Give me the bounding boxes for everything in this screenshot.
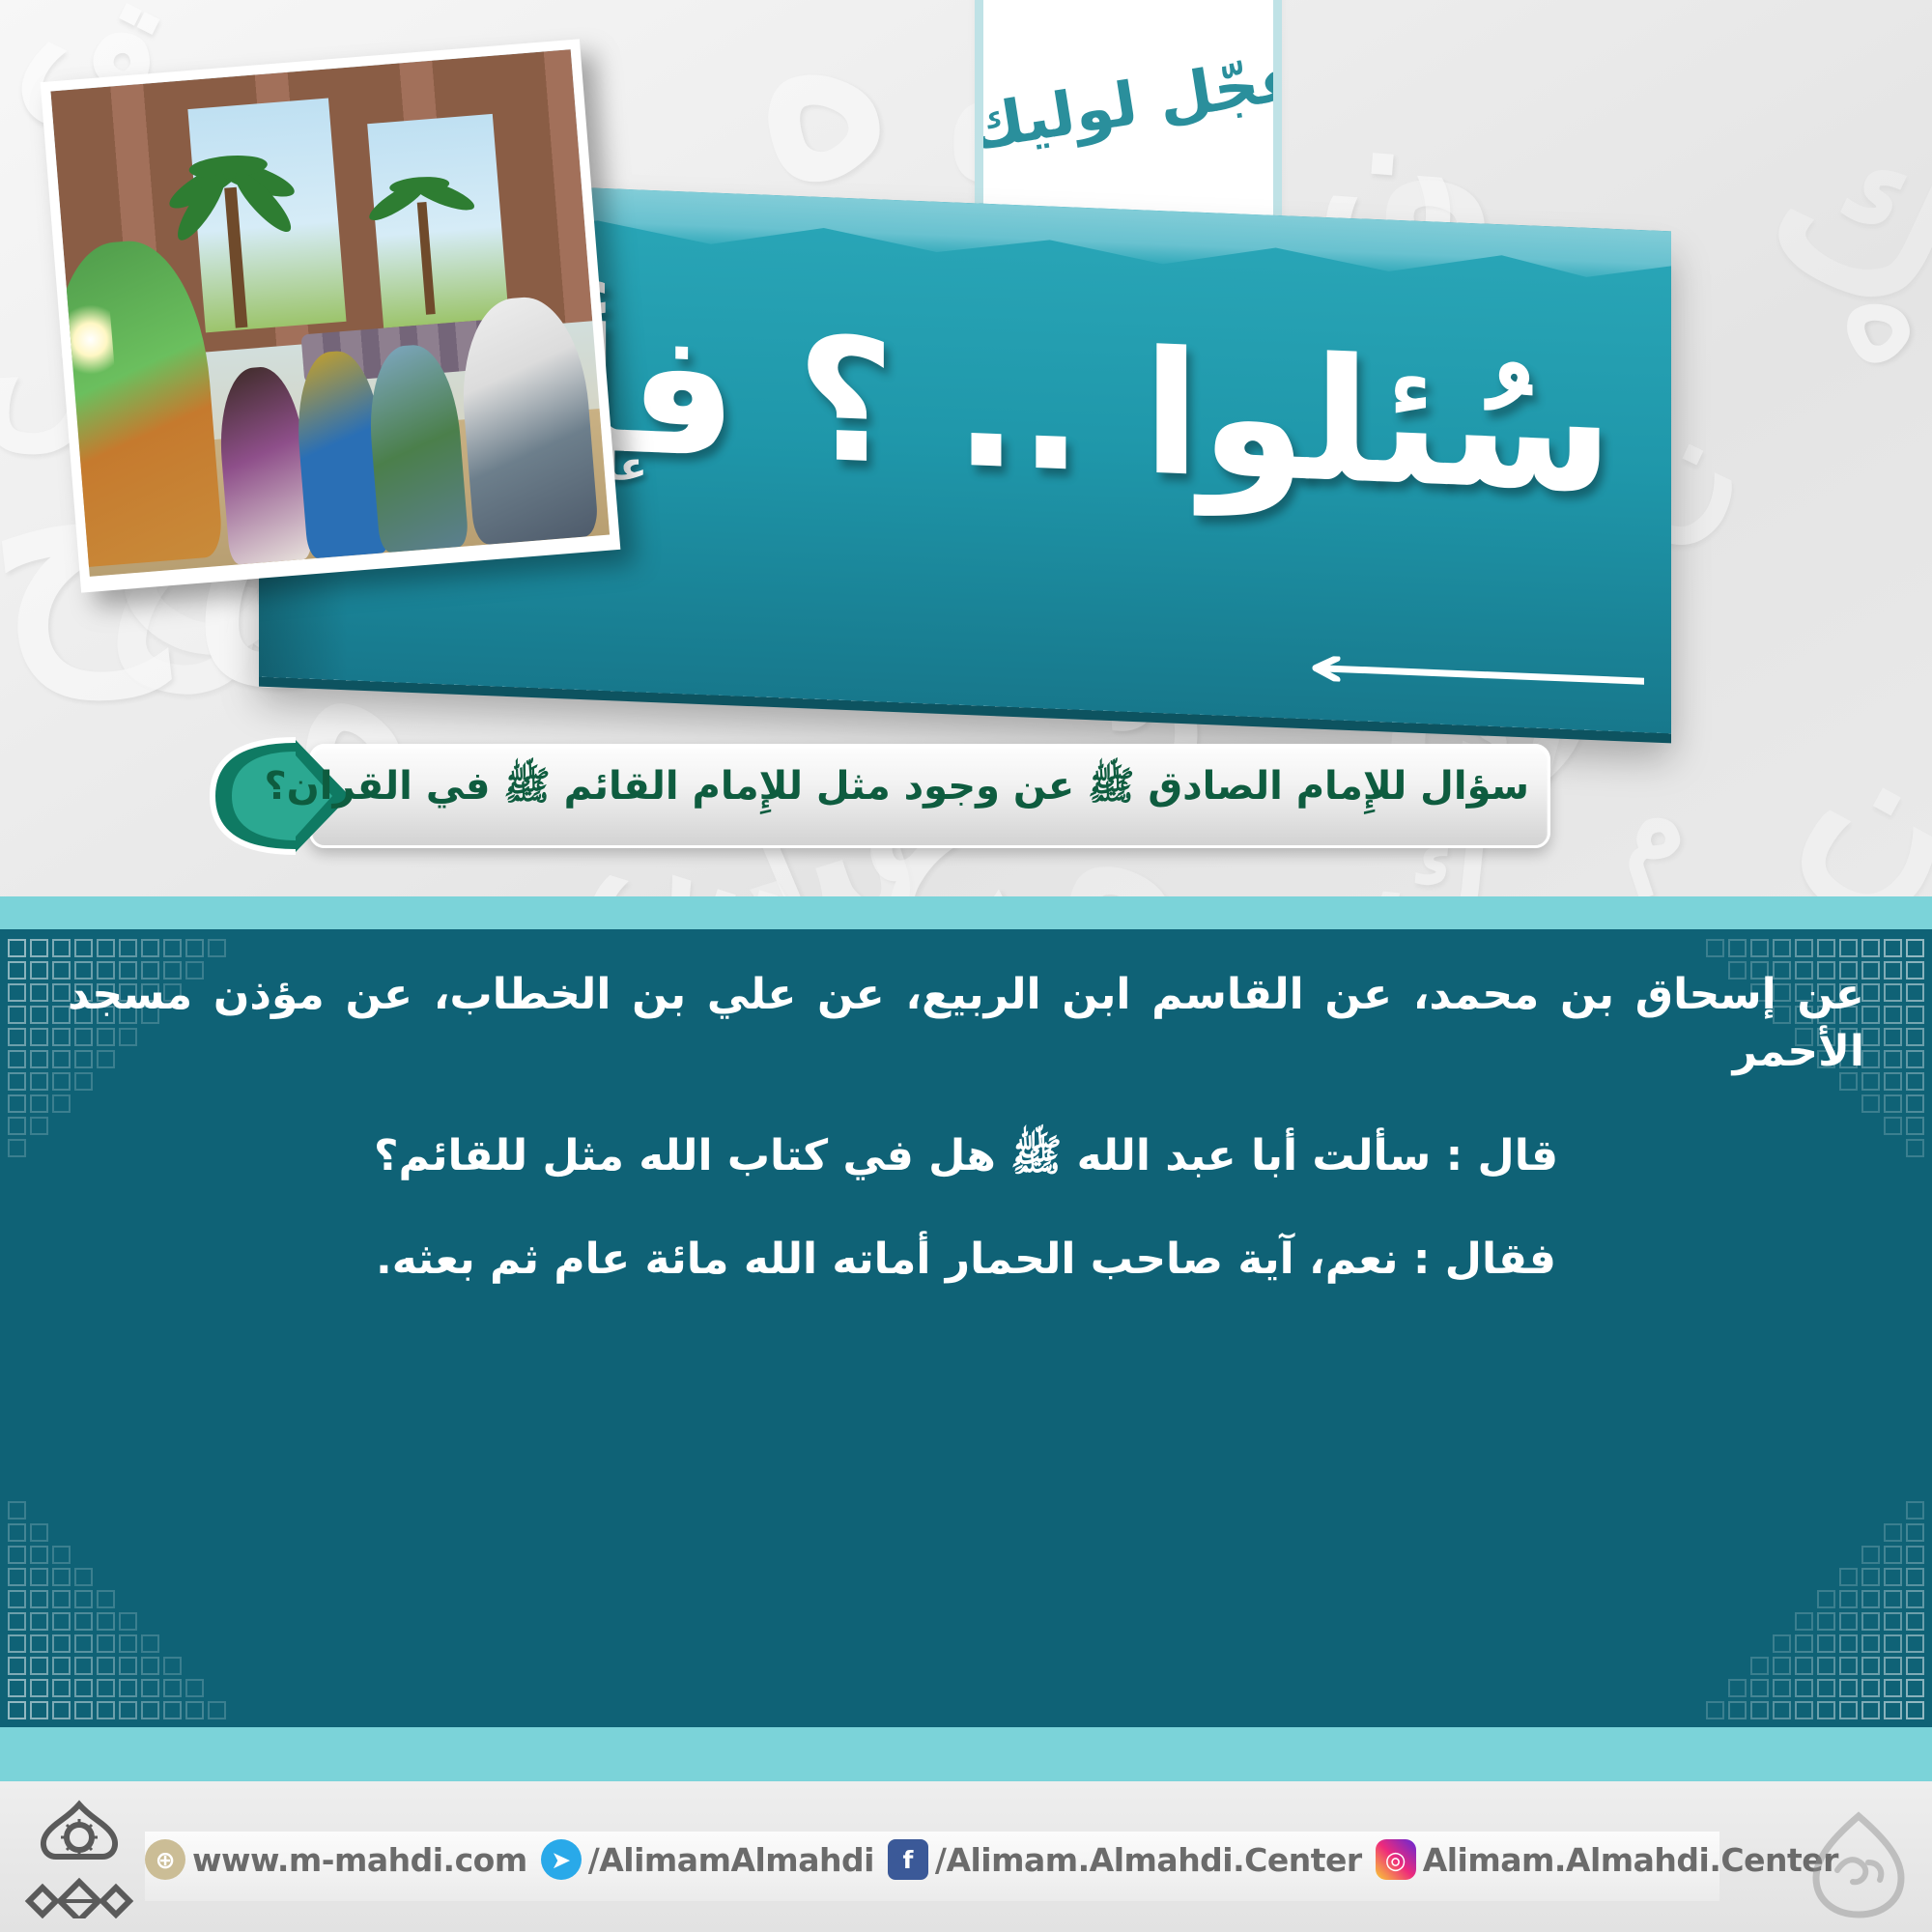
corner-dot	[1884, 1050, 1902, 1068]
corner-dot	[8, 1657, 26, 1675]
corner-dot	[74, 1590, 93, 1608]
corner-dot	[141, 939, 159, 957]
corner-dot	[8, 1523, 26, 1542]
corner-dot	[119, 1634, 137, 1653]
corner-dot	[1861, 1568, 1880, 1586]
watermark-glyph: ك	[1754, 98, 1932, 328]
corner-dot	[1884, 1701, 1902, 1719]
bottom-accent-strip	[0, 1727, 1932, 1781]
corner-dot	[1728, 1679, 1747, 1697]
corner-dot	[1884, 1006, 1902, 1024]
corner-dot	[1884, 1634, 1902, 1653]
corner-dot	[1906, 1050, 1924, 1068]
corner-dot	[8, 983, 26, 1002]
corner-dot	[1817, 1590, 1835, 1608]
corner-dot	[52, 1679, 71, 1697]
corner-dot	[1884, 961, 1902, 980]
corner-dot	[8, 1501, 26, 1520]
corner-dot	[1861, 939, 1880, 957]
corner-dot	[1795, 1657, 1813, 1675]
corner-dot	[8, 1568, 26, 1586]
panel-top-strip	[0, 896, 1932, 929]
corner-dot	[30, 983, 48, 1002]
corner-dot	[8, 939, 26, 957]
corner-dot	[8, 1072, 26, 1091]
watermark-glyph: م	[1597, 771, 1693, 880]
corner-dot	[1884, 939, 1902, 957]
watermark-glyph: ن	[1786, 717, 1932, 924]
corner-dot	[119, 939, 137, 957]
instagram-icon: ◎	[1376, 1839, 1416, 1880]
corner-dot	[1861, 1634, 1880, 1653]
almahdi-center-emblem	[21, 1797, 137, 1918]
corner-dot	[1773, 1679, 1791, 1697]
corner-dot	[141, 1679, 159, 1697]
corner-dot	[1861, 1679, 1880, 1697]
corner-dot	[1884, 1612, 1902, 1631]
telegram-icon: ➤	[541, 1839, 582, 1880]
corner-dot	[163, 1657, 182, 1675]
corner-dot	[30, 1028, 48, 1046]
corner-dot	[8, 1139, 26, 1157]
corner-dot	[1906, 1657, 1924, 1675]
question-banner: سؤال للإِمام الصادق ﷺ عن وجود مثل للإِما…	[203, 734, 1550, 860]
corner-dot	[208, 1701, 226, 1719]
corner-dot	[30, 1006, 48, 1024]
corner-dot	[1839, 1657, 1858, 1675]
corner-dot	[185, 1701, 204, 1719]
corner-dot	[30, 1117, 48, 1135]
corner-dot	[1795, 1679, 1813, 1697]
corner-dot	[1795, 1634, 1813, 1653]
corner-dot	[119, 1612, 137, 1631]
corner-dot	[52, 1568, 71, 1586]
corner-dot	[1906, 1006, 1924, 1024]
corner-dot	[1795, 1701, 1813, 1719]
social-link-label: Alimam.Almahdi.Center	[1423, 1841, 1838, 1879]
corner-dot	[97, 1590, 115, 1608]
corner-dot	[30, 1568, 48, 1586]
corner-dot	[1906, 1117, 1924, 1135]
corner-dot	[1906, 1590, 1924, 1608]
corner-dot	[1839, 1568, 1858, 1586]
corner-dot	[1795, 939, 1813, 957]
corner-dot	[1906, 939, 1924, 957]
corner-dot	[1839, 1590, 1858, 1608]
corner-dot	[1728, 939, 1747, 957]
corner-dot	[30, 1657, 48, 1675]
corner-dot	[1750, 939, 1769, 957]
content-panel: عن إسحاق بن محمد، عن القاسم ابن الربيع، …	[0, 896, 1932, 1727]
corner-dot	[185, 939, 204, 957]
corner-dot	[1906, 1139, 1924, 1157]
corner-dot	[8, 1701, 26, 1719]
corner-dot	[1839, 939, 1858, 957]
corner-dot	[97, 1612, 115, 1631]
corner-dot	[1884, 1028, 1902, 1046]
social-link-label: www.m-mahdi.com	[192, 1841, 527, 1879]
imam-with-companions-illustration	[50, 49, 610, 577]
corner-dot	[30, 1050, 48, 1068]
corner-dot	[97, 1634, 115, 1653]
corner-dot	[1817, 1679, 1835, 1697]
corner-dot	[74, 1612, 93, 1631]
corner-dot	[1906, 1072, 1924, 1091]
social-link-facebook[interactable]: f/Alimam.Almahdi.Center	[888, 1839, 1362, 1880]
social-link-instagram[interactable]: ◎Alimam.Almahdi.Center	[1376, 1839, 1838, 1880]
corner-dot	[119, 1679, 137, 1697]
corner-dot	[52, 939, 71, 957]
hadith-line-question: قال : سألت أبا عبد الله ﷺ هل ﻓﻲ كتاب الل…	[68, 1127, 1864, 1184]
corner-dot	[97, 1679, 115, 1697]
corner-dot	[30, 1701, 48, 1719]
arabic-calligraphy-mark-icon	[1801, 1806, 1917, 1922]
corner-dot	[8, 1094, 26, 1113]
corner-dot	[1884, 1679, 1902, 1697]
corner-dot	[1906, 1634, 1924, 1653]
corner-dot	[1750, 1679, 1769, 1697]
social-link-globe[interactable]: ⊕www.m-mahdi.com	[145, 1839, 527, 1880]
corner-dot	[1706, 939, 1724, 957]
corner-dot	[30, 1523, 48, 1542]
corner-dot	[1839, 1612, 1858, 1631]
corner-dot	[1884, 1523, 1902, 1542]
facebook-icon: f	[888, 1839, 928, 1880]
corner-dot	[1795, 1612, 1813, 1631]
corner-dot	[1906, 1546, 1924, 1564]
corner-dot	[163, 939, 182, 957]
corner-dot	[1750, 1701, 1769, 1719]
corner-dot-pattern-bottom-right	[1702, 1488, 1924, 1719]
corner-dot	[1861, 1701, 1880, 1719]
corner-dot	[163, 1701, 182, 1719]
corner-dot	[1884, 1117, 1902, 1135]
corner-dot	[8, 1050, 26, 1068]
corner-dot	[208, 939, 226, 957]
corner-dot	[1861, 1590, 1880, 1608]
corner-dot	[1906, 1612, 1924, 1631]
corner-dot	[1884, 1546, 1902, 1564]
corner-dot	[52, 1546, 71, 1564]
corner-dot	[97, 1657, 115, 1675]
corner-dot	[1906, 1501, 1924, 1520]
watermark-glyph: ه	[1805, 240, 1926, 377]
corner-dot	[8, 1590, 26, 1608]
corner-dot	[8, 1612, 26, 1631]
corner-dot	[30, 961, 48, 980]
corner-dot	[30, 1094, 48, 1113]
corner-dot	[1906, 1523, 1924, 1542]
corner-dot	[8, 1006, 26, 1024]
corner-dot	[141, 1701, 159, 1719]
corner-dot	[74, 1657, 93, 1675]
corner-dot	[1861, 1612, 1880, 1631]
corner-dot	[1906, 1028, 1924, 1046]
corner-dot	[119, 1701, 137, 1719]
arrow-left-icon	[1287, 654, 1644, 694]
corner-dot	[74, 1701, 93, 1719]
corner-dot	[52, 1590, 71, 1608]
corner-dot	[1728, 1701, 1747, 1719]
corner-dot	[74, 1679, 93, 1697]
corner-dot	[1773, 1634, 1791, 1653]
corner-dot	[1906, 961, 1924, 980]
illustration-light-halo	[65, 295, 115, 384]
corner-dot	[30, 939, 48, 957]
corner-dot	[1706, 1701, 1724, 1719]
footer: ⊕www.m-mahdi.com➤/AlimamAlmahdif/Alimam.…	[0, 1781, 1932, 1932]
corner-dot	[1750, 1657, 1769, 1675]
corner-dot	[1817, 1612, 1835, 1631]
corner-dot	[30, 1679, 48, 1697]
corner-dot	[1906, 1701, 1924, 1719]
corner-dot	[74, 1634, 93, 1653]
hadith-line-answer: فقال : نعم، آية صاحب الحمار أماته الله م…	[68, 1231, 1864, 1288]
watermark-glyph: س	[1908, 319, 1932, 507]
corner-dot	[1817, 1634, 1835, 1653]
illustration-card	[41, 39, 621, 592]
corner-dot	[8, 1634, 26, 1653]
corner-dot	[163, 1679, 182, 1697]
watermark-glyph: ه	[714, 0, 905, 199]
corner-dot	[8, 1117, 26, 1135]
hadith-body-text: عن إسحاق بن محمد، عن القاسم ابن الربيع، …	[68, 966, 1864, 1335]
corner-dot	[8, 1546, 26, 1564]
corner-dot	[1817, 1657, 1835, 1675]
hadith-line-narrator: عن إسحاق بن محمد، عن القاسم ابن الربيع، …	[68, 966, 1864, 1081]
corner-dot	[52, 1701, 71, 1719]
corner-dot	[1817, 1701, 1835, 1719]
corner-dot	[1906, 1568, 1924, 1586]
corner-dot	[52, 1634, 71, 1653]
poster-root: نككصنهقصكمقعنلمعهحسممهننهعقققمهلعكمقصكنق…	[0, 0, 1932, 1932]
corner-dot	[1906, 983, 1924, 1002]
corner-dot	[1884, 983, 1902, 1002]
calligraphy-plaque: اللهم عجّل لوليك الفرج	[983, 0, 1273, 227]
corner-dot	[1839, 1679, 1858, 1697]
corner-dot	[8, 1679, 26, 1697]
social-links-row: ⊕www.m-mahdi.com➤/AlimamAlmahdif/Alimam.…	[145, 1839, 1838, 1880]
corner-dot	[30, 1634, 48, 1653]
corner-dot	[1773, 1657, 1791, 1675]
corner-dot	[30, 1612, 48, 1631]
question-text: سؤال للإِمام الصادق ﷺ عن وجود مثل للإِما…	[328, 757, 1529, 815]
corner-dot	[1773, 939, 1791, 957]
corner-dot	[52, 1657, 71, 1675]
corner-dot	[30, 1590, 48, 1608]
corner-dot	[119, 1657, 137, 1675]
corner-dot	[1861, 1657, 1880, 1675]
corner-dot	[1884, 1657, 1902, 1675]
corner-dot	[185, 1679, 204, 1697]
corner-dot	[30, 1546, 48, 1564]
globe-icon: ⊕	[145, 1839, 185, 1880]
corner-dot	[74, 939, 93, 957]
corner-dot	[1884, 1590, 1902, 1608]
corner-dot	[1839, 1701, 1858, 1719]
corner-dot	[30, 1072, 48, 1091]
corner-dot	[141, 1634, 159, 1653]
corner-dot	[1817, 939, 1835, 957]
corner-dot	[1906, 1679, 1924, 1697]
corner-dot	[1773, 1701, 1791, 1719]
social-link-label: /AlimamAlmahdi	[588, 1841, 874, 1879]
social-link-label: /Alimam.Almahdi.Center	[935, 1841, 1362, 1879]
corner-dot	[74, 1568, 93, 1586]
corner-dot	[8, 961, 26, 980]
corner-dot	[1861, 1546, 1880, 1564]
corner-dot	[1884, 1072, 1902, 1091]
corner-dot	[1884, 1568, 1902, 1586]
corner-dot	[52, 1612, 71, 1631]
corner-dot	[1884, 1094, 1902, 1113]
corner-dot	[8, 1028, 26, 1046]
corner-dot	[1839, 1634, 1858, 1653]
social-link-telegram[interactable]: ➤/AlimamAlmahdi	[541, 1839, 874, 1880]
corner-dot-pattern-bottom-left	[8, 1488, 230, 1719]
corner-dot	[97, 939, 115, 957]
corner-dot	[141, 1657, 159, 1675]
corner-dot	[97, 1701, 115, 1719]
corner-dot	[1906, 1094, 1924, 1113]
allahumma-ajjil-text: اللهم عجّل لوليك الفرج	[983, 16, 1273, 190]
